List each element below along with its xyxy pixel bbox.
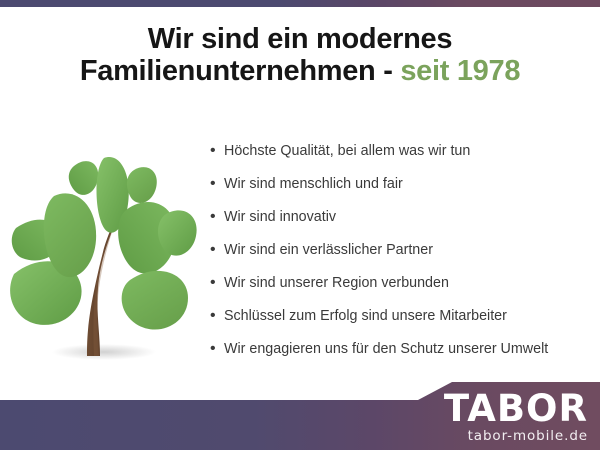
headline-accent: seit 1978: [400, 55, 520, 87]
bullet-marker-icon: •: [210, 174, 224, 194]
headline-line-2: Familienunternehmen - seit 1978: [0, 56, 600, 88]
list-item: • Höchste Qualität, bei allem was wir tu…: [210, 141, 600, 174]
tree-leaf: [127, 167, 157, 203]
tree-leaves: [10, 157, 197, 330]
tree-leaf: [69, 161, 98, 195]
list-item: • Wir sind ein verlässlicher Partner: [210, 240, 600, 273]
footer-bar-shape: [0, 382, 600, 450]
tree-trunk-highlight: [93, 226, 114, 356]
bullet-marker-icon: •: [210, 306, 224, 326]
values-bullet-list: • Höchste Qualität, bei allem was wir tu…: [210, 141, 600, 372]
list-item-label: Wir engagieren uns für den Schutz unsere…: [224, 339, 548, 359]
list-item-label: Wir sind unserer Region verbunden: [224, 273, 449, 293]
tree-leaf: [122, 271, 188, 330]
page-title: Wir sind ein modernes Familienunternehme…: [0, 24, 600, 88]
list-item-label: Wir sind ein verlässlicher Partner: [224, 240, 433, 260]
tree-icon: [8, 148, 198, 366]
list-item-label: Höchste Qualität, bei allem was wir tun: [224, 141, 470, 161]
list-item-label: Wir sind innovativ: [224, 207, 336, 227]
footer-bar: [0, 382, 600, 450]
headline-line-2-main: Familienunternehmen -: [80, 55, 401, 87]
bullet-marker-icon: •: [210, 141, 224, 161]
list-item: • Wir sind unserer Region verbunden: [210, 273, 600, 306]
list-item: • Wir engagieren uns für den Schutz unse…: [210, 339, 600, 372]
list-item: • Wir sind menschlich und fair: [210, 174, 600, 207]
bullet-marker-icon: •: [210, 273, 224, 293]
list-item-label: Schlüssel zum Erfolg sind unsere Mitarbe…: [224, 306, 507, 326]
top-accent-bar: [0, 0, 600, 7]
slide-canvas: Wir sind ein modernes Familienunternehme…: [0, 0, 600, 450]
headline-line-1: Wir sind ein modernes: [0, 24, 600, 56]
tree-leaf: [158, 210, 197, 255]
tree-shadow: [52, 344, 156, 360]
bullet-marker-icon: •: [210, 207, 224, 227]
list-item-label: Wir sind menschlich und fair: [224, 174, 403, 194]
bullet-marker-icon: •: [210, 240, 224, 260]
list-item: • Schlüssel zum Erfolg sind unsere Mitar…: [210, 306, 600, 339]
bullet-marker-icon: •: [210, 339, 224, 359]
list-item: • Wir sind innovativ: [210, 207, 600, 240]
